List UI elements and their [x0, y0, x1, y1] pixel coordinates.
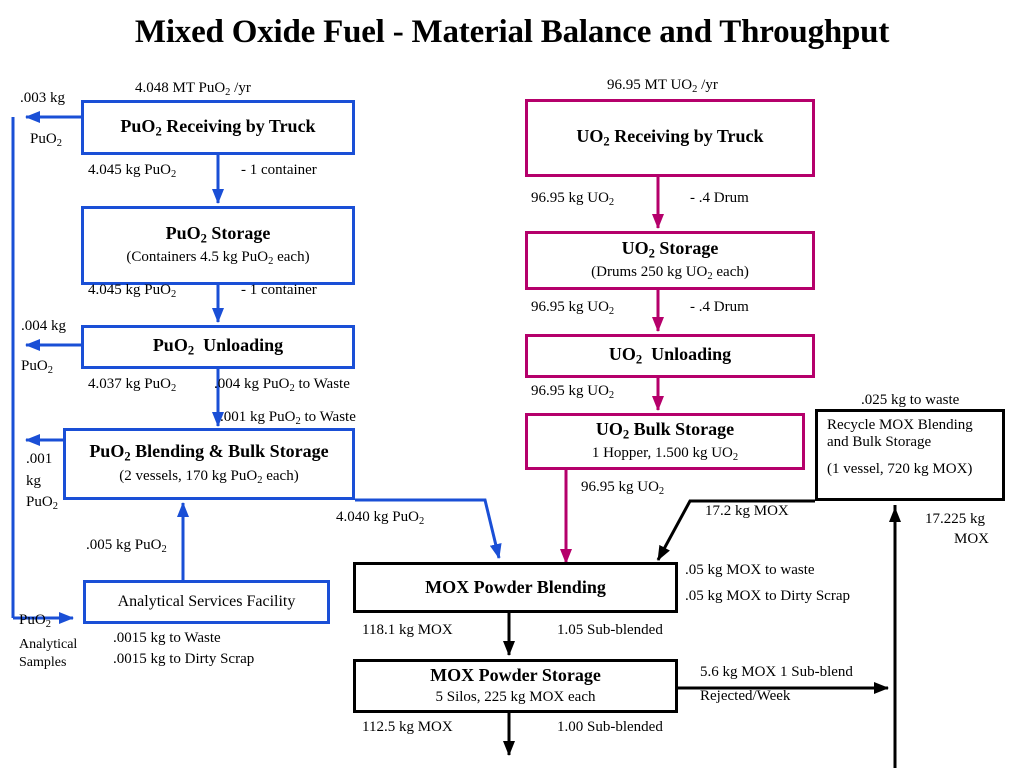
box-analytical-services[interactable]: Analytical Services Facility: [83, 580, 330, 624]
label-puo2-waste-004: .004 kg PuO2 to Waste: [214, 376, 350, 395]
label-puo2-storage-to-unloading: 4.045 kg PuO2: [88, 282, 176, 301]
label-asf-waste: .0015 kg to Waste: [113, 630, 221, 648]
label-mox-store-reject-b: Rejected/Week: [700, 688, 790, 706]
label-puo2-to-asf: .005 kg PuO2: [86, 537, 167, 556]
label-mox-blend-out: 118.1 kg MOX: [362, 622, 453, 640]
label-recycle-waste: .025 kg to waste: [861, 392, 959, 410]
label-puo2-recycle-001-c: PuO2: [26, 494, 58, 513]
box-puo2-storage-title: PuO2 Storage: [166, 223, 271, 246]
box-mox-powder-blending[interactable]: MOX Powder Blending: [353, 562, 678, 613]
box-puo2-receiving[interactable]: PuO2 Receiving by Truck: [81, 100, 355, 155]
label-puo2-recycle-001-a: .001: [26, 451, 52, 469]
box-recycle-mox-line1: Recycle MOX Blending: [827, 417, 994, 434]
label-puo2-recycle-001-b: kg: [26, 473, 41, 491]
box-puo2-storage-detail: (Containers 4.5 kg PuO2 each): [126, 249, 309, 268]
box-uo2-receiving-title: UO2 Receiving by Truck: [576, 126, 763, 149]
label-mox-store-out: 112.5 kg MOX: [362, 719, 453, 737]
label-uo2-feed-rate: 96.95 MT UO2 /yr: [607, 77, 718, 96]
box-uo2-bulk-storage-title: UO2 Bulk Storage: [596, 419, 734, 442]
label-puo2-storage-to-unloading-count: - 1 container: [241, 282, 317, 300]
label-puo2-recycle-004-unit: PuO2: [21, 358, 53, 377]
box-puo2-unloading-title: PuO2 Unloading: [153, 335, 283, 358]
label-puo2-recycle-003-unit: PuO2: [30, 131, 62, 150]
box-mox-powder-storage-detail: 5 Silos, 225 kg MOX each: [436, 689, 596, 707]
box-uo2-unloading-title: UO2 Unloading: [609, 344, 731, 367]
label-puo2-waste-001: .001 kg PuO2 to Waste: [220, 409, 356, 428]
label-recycle-in-b: MOX: [954, 531, 989, 549]
label-puo2-recv-to-storage: 4.045 kg PuO2: [88, 162, 176, 181]
label-uo2-storage-to-unloading-drum: - .4 Drum: [690, 299, 749, 317]
label-mox-store-out-subblend: 1.00 Sub-blended: [557, 719, 663, 737]
diagram-canvas: Mixed Oxide Fuel - Material Balance and …: [0, 0, 1024, 768]
box-uo2-receiving[interactable]: UO2 Receiving by Truck: [525, 99, 815, 177]
box-recycle-mox-line3: (1 vessel, 720 kg MOX): [827, 461, 994, 478]
label-analytical-samples-a: Analytical: [19, 637, 77, 654]
box-mox-powder-blending-title: MOX Powder Blending: [425, 577, 606, 598]
box-puo2-storage[interactable]: PuO2 Storage (Containers 4.5 kg PuO2 eac…: [81, 206, 355, 285]
label-mox-blend-out-subblend: 1.05 Sub-blended: [557, 622, 663, 640]
label-puo2-to-mox: 4.040 kg PuO2: [336, 509, 424, 528]
box-recycle-mox[interactable]: Recycle MOX Blending and Bulk Storage (1…: [815, 409, 1005, 501]
label-puo2-samples-unit: PuO2: [19, 612, 51, 631]
label-analytical-samples-b: Samples: [19, 655, 66, 672]
box-puo2-blending-detail: (2 vessels, 170 kg PuO2 each): [119, 468, 298, 487]
label-asf-dirty-scrap: .0015 kg to Dirty Scrap: [113, 651, 254, 669]
label-puo2-recv-to-storage-count: - 1 container: [241, 162, 317, 180]
box-mox-powder-storage[interactable]: MOX Powder Storage 5 Silos, 225 kg MOX e…: [353, 659, 678, 713]
label-puo2-feed-rate: 4.048 MT PuO2 /yr: [135, 80, 251, 99]
box-puo2-blending-title: PuO2 Blending & Bulk Storage: [89, 441, 328, 464]
box-uo2-bulk-storage-detail: 1 Hopper, 1.500 kg UO2: [592, 445, 738, 464]
box-uo2-storage-title: UO2 Storage: [622, 238, 719, 261]
box-analytical-services-title: Analytical Services Facility: [118, 593, 296, 612]
label-uo2-recv-to-storage-drum: - .4 Drum: [690, 190, 749, 208]
label-uo2-to-mox: 96.95 kg UO2: [581, 479, 664, 498]
label-puo2-unloading-out: 4.037 kg PuO2: [88, 376, 176, 395]
label-puo2-recycle-003: .003 kg: [20, 90, 65, 108]
box-uo2-storage[interactable]: UO2 Storage (Drums 250 kg UO2 each): [525, 231, 815, 290]
box-puo2-receiving-title: PuO2 Receiving by Truck: [120, 116, 315, 139]
box-uo2-storage-detail: (Drums 250 kg UO2 each): [591, 264, 749, 283]
label-uo2-unloading-out: 96.95 kg UO2: [531, 383, 614, 402]
box-puo2-unloading[interactable]: PuO2 Unloading: [81, 325, 355, 369]
label-recycle-in-a: 17.225 kg: [925, 511, 985, 529]
label-recycle-to-mox: 17.2 kg MOX: [705, 503, 789, 521]
box-uo2-unloading[interactable]: UO2 Unloading: [525, 334, 815, 378]
label-mox-blend-dirty-scrap: .05 kg MOX to Dirty Scrap: [685, 588, 850, 606]
label-mox-store-reject-a: 5.6 kg MOX 1 Sub-blend: [700, 664, 853, 682]
label-uo2-recv-to-storage: 96.95 kg UO2: [531, 190, 614, 209]
box-puo2-blending[interactable]: PuO2 Blending & Bulk Storage (2 vessels,…: [63, 428, 355, 500]
box-recycle-mox-line2: and Bulk Storage: [827, 434, 994, 451]
label-uo2-storage-to-unloading: 96.95 kg UO2: [531, 299, 614, 318]
label-puo2-recycle-004: .004 kg: [21, 318, 66, 336]
label-mox-blend-waste: .05 kg MOX to waste: [685, 562, 815, 580]
box-mox-powder-storage-title: MOX Powder Storage: [430, 665, 601, 686]
box-uo2-bulk-storage[interactable]: UO2 Bulk Storage 1 Hopper, 1.500 kg UO2: [525, 413, 805, 470]
